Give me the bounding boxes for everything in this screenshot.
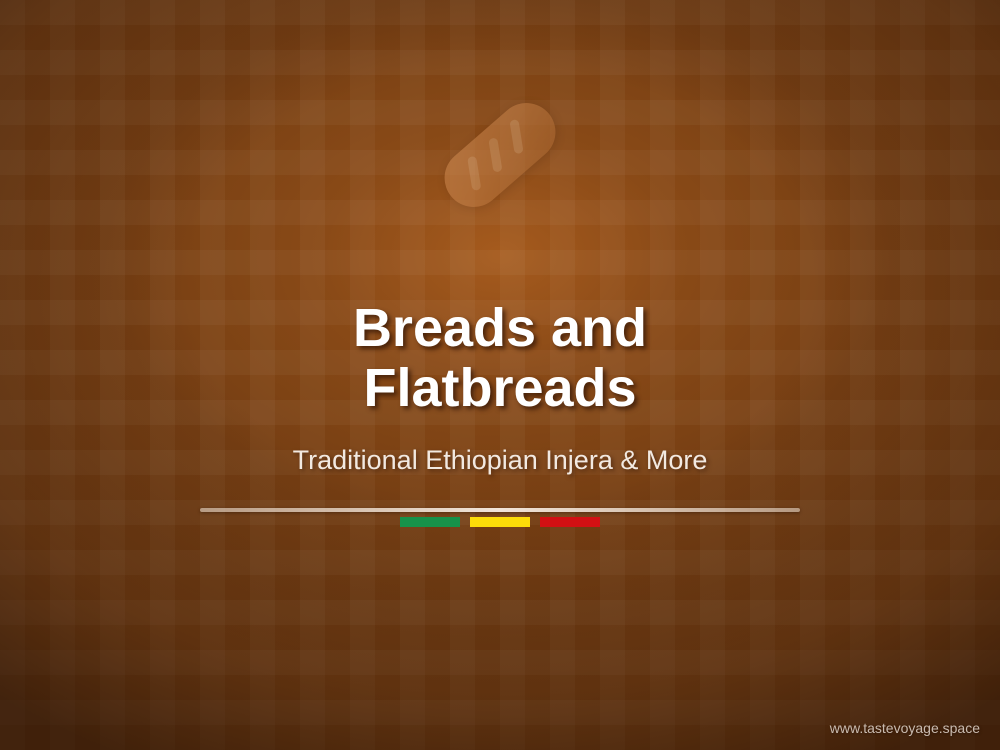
bread-body: [433, 91, 568, 219]
divider-line: [200, 508, 800, 512]
title-line-2: Flatbreads: [0, 358, 1000, 418]
bread-slash-1: [467, 156, 481, 191]
slide-title: Breads and Flatbreads: [0, 298, 1000, 418]
bread-loaf-icon: [440, 100, 560, 210]
flag-bar-yellow: [470, 517, 530, 527]
flag-bar-green: [400, 517, 460, 527]
ethiopian-flag-bars: [400, 517, 600, 527]
slide-subtitle: Traditional Ethiopian Injera & More: [0, 445, 1000, 476]
flag-bar-red: [540, 517, 600, 527]
footer-url: www.tastevoyage.space: [830, 720, 980, 736]
bread-slash-2: [488, 138, 502, 173]
presentation-slide: Breads and Flatbreads Traditional Ethiop…: [0, 0, 1000, 750]
title-line-1: Breads and: [0, 298, 1000, 358]
bread-slash-3: [509, 119, 523, 154]
